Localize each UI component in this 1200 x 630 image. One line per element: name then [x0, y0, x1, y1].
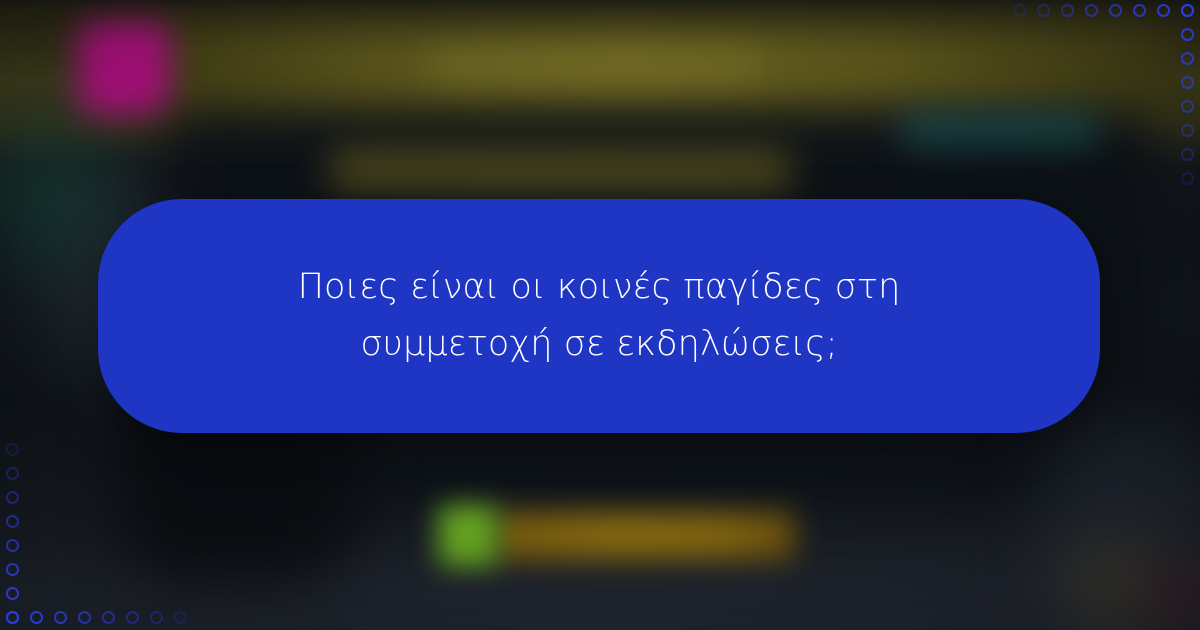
decorative-dot	[1061, 4, 1074, 17]
dot-row-top-right	[1013, 4, 1194, 17]
decorative-dot	[78, 611, 91, 624]
decorative-dot	[6, 563, 19, 576]
decorative-dot	[54, 611, 67, 624]
decorative-dot	[6, 443, 19, 456]
question-card: Ποιες είναι οι κοινές παγίδες στη συμμετ…	[98, 199, 1100, 433]
decorative-dot	[174, 611, 187, 624]
decorative-dot	[1181, 100, 1194, 113]
decorative-dot	[30, 611, 43, 624]
decorative-dot	[1181, 28, 1194, 41]
decorative-dot	[1181, 148, 1194, 161]
question-text: Ποιες είναι οι κοινές παγίδες στη συμμετ…	[204, 259, 994, 372]
decorative-dot	[6, 491, 19, 504]
decorative-dot	[150, 611, 163, 624]
decorative-dot	[1181, 172, 1194, 185]
decorative-dot	[1157, 4, 1170, 17]
decorative-dot	[1085, 4, 1098, 17]
decorative-dot	[1133, 4, 1146, 17]
decorative-dot	[6, 515, 19, 528]
dot-column-right	[1181, 4, 1194, 185]
decorative-dot	[6, 611, 19, 624]
decorative-dot	[1181, 4, 1194, 17]
decorative-dot	[1109, 4, 1122, 17]
decorative-dot	[1181, 52, 1194, 65]
decorative-dot	[1181, 76, 1194, 89]
decorative-dot	[6, 539, 19, 552]
screenshot-canvas: Ποιες είναι οι κοινές παγίδες στη συμμετ…	[0, 0, 1200, 630]
decorative-dot	[6, 467, 19, 480]
dot-column-left	[6, 443, 19, 624]
decorative-dot	[6, 587, 19, 600]
decorative-dot	[102, 611, 115, 624]
decorative-dot	[1013, 4, 1026, 17]
decorative-dot	[1181, 124, 1194, 137]
decorative-dot	[126, 611, 139, 624]
decorative-dot	[1037, 4, 1050, 17]
dot-row-bottom-left	[6, 611, 187, 624]
